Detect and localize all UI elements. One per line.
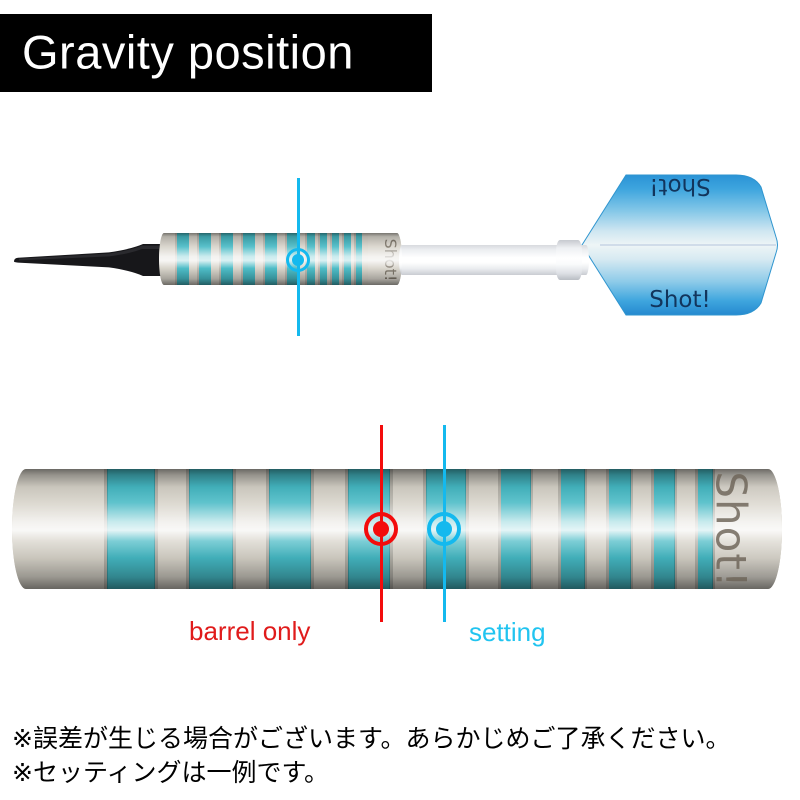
page-title: Gravity position xyxy=(22,24,354,79)
flight-logo-bottom-text: Shot! xyxy=(649,287,711,313)
target-core-icon xyxy=(292,254,304,266)
target-core-icon xyxy=(373,521,389,537)
barrel: Shot! xyxy=(159,233,402,285)
barrel-logo-small-text: Shot! xyxy=(381,239,400,282)
gravity-marker-barrel-only xyxy=(364,512,398,546)
legend-label-barrel-only: barrel only xyxy=(189,616,310,647)
footnote-line-1: ※誤差が生じる場合がございます。あらかじめご了承ください。 xyxy=(12,722,792,756)
flight-logo-top-text: Shot! xyxy=(649,173,711,199)
barrel-ring-pattern: Shot! xyxy=(159,233,402,285)
target-core-icon xyxy=(436,521,452,537)
gravity-marker-setting xyxy=(427,512,461,546)
title-banner: Gravity position xyxy=(0,14,432,92)
footnotes: ※誤差が生じる場合がございます。あらかじめご了承ください。 ※セッティングは一例… xyxy=(12,722,792,790)
legend-label-setting: setting xyxy=(469,617,546,648)
soft-tip xyxy=(13,243,163,277)
gravity-marker-setting-upper xyxy=(286,248,310,272)
footnote-line-2: ※セッティングは一例です。 xyxy=(12,756,792,790)
shaft-collar xyxy=(556,240,582,280)
